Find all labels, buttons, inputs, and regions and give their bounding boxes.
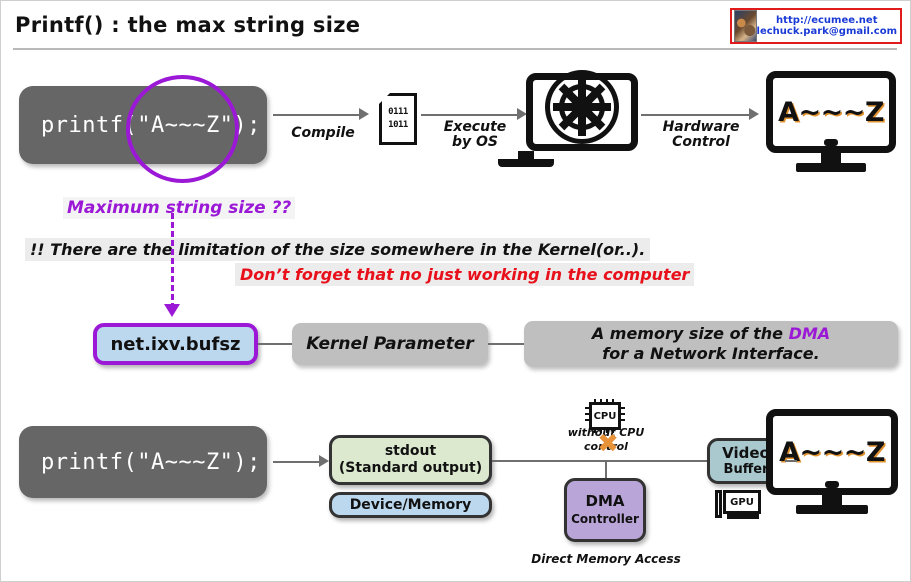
connector-execute (421, 114, 519, 116)
stdout-box: stdout (Standard output) (329, 435, 492, 485)
connector-compile (273, 114, 361, 116)
string-highlight-ellipse (126, 75, 239, 183)
dashed-pointer-arrowhead (164, 304, 180, 317)
dma-line2: Controller (571, 512, 639, 528)
file-bits-line1: 0111 (383, 107, 413, 117)
limitation-statement: !! There are the limitation of the size … (25, 238, 650, 261)
page-title: Printf() : the max string size (15, 13, 360, 37)
connector-video-monitor (785, 460, 797, 462)
device-memory-box: Device/Memory (329, 492, 492, 518)
stdout-line1: stdout (385, 443, 436, 461)
connector-stdout (273, 461, 323, 463)
arrowhead-hardware (749, 108, 759, 120)
gear-refresh-icon (544, 69, 620, 145)
video-buffer-line2: Buffer (724, 462, 769, 478)
dma-desc-line2: for a Network Interface. (602, 344, 819, 364)
logo-contact-box: http://ecumee.net lechuck.park@gmail.com (730, 8, 902, 44)
dma-line1: DMA (586, 492, 625, 512)
binary-file-icon: 0111 1011 (379, 93, 417, 145)
dma-description-box: A memory size of the DMA for a Network I… (524, 321, 898, 367)
arrowhead-compile (359, 108, 369, 120)
cpu-disabled-cross-icon: ✖ (595, 435, 621, 455)
kernel-parameter-kind-box: Kernel Parameter (292, 323, 488, 365)
device-memory-label: Device/Memory (350, 497, 472, 513)
connector-hardware (641, 114, 753, 116)
logo-email[interactable]: lechuck.park@gmail.com (757, 26, 897, 38)
dashed-pointer-line (171, 213, 174, 309)
connector-param-desc (488, 343, 524, 345)
file-bits-line2: 1011 (383, 120, 413, 130)
photo-thumbnail-icon (734, 10, 757, 42)
connector-bus (492, 460, 707, 462)
dma-desc-highlight: DMA (789, 324, 831, 343)
bottom-output-monitor-icon: A~~~Z (766, 409, 898, 521)
label-execute-line2: by OS (433, 135, 517, 150)
label-compile: Compile (285, 126, 361, 141)
dma-desc-line1-text: A memory size of the (592, 324, 789, 343)
dont-forget-statement: Don’t forget that no just working in the… (235, 263, 694, 286)
bottom-printf-code-box: printf("A~~~Z"); (19, 426, 267, 498)
label-hardware-line1: Hardware (651, 120, 751, 135)
stdout-line2: (Standard output) (339, 460, 482, 478)
arrowhead-stdout (319, 455, 329, 467)
gpu-label: GPU (723, 490, 761, 514)
bottom-monitor-text: A~~~Z (779, 437, 885, 468)
title-divider (13, 48, 897, 50)
dma-caption: Direct Memory Access (521, 552, 691, 566)
max-string-question-label: Maximum string size ?? (63, 197, 295, 219)
top-output-monitor-icon: A~~~Z (766, 71, 896, 175)
gpu-card-icon: GPU (713, 490, 761, 522)
video-buffer-line1: Video (722, 444, 770, 463)
top-monitor-text: A~~~Z (778, 97, 884, 128)
kernel-parameter-name-box[interactable]: net.ixv.bufsz (93, 323, 258, 365)
dma-controller-box: DMA Controller (564, 478, 646, 542)
label-hardware-line2: Control (651, 135, 751, 150)
connector-param-kind (258, 343, 292, 345)
logo-url[interactable]: http://ecumee.net (757, 15, 897, 27)
label-execute-line1: Execute (433, 120, 517, 135)
